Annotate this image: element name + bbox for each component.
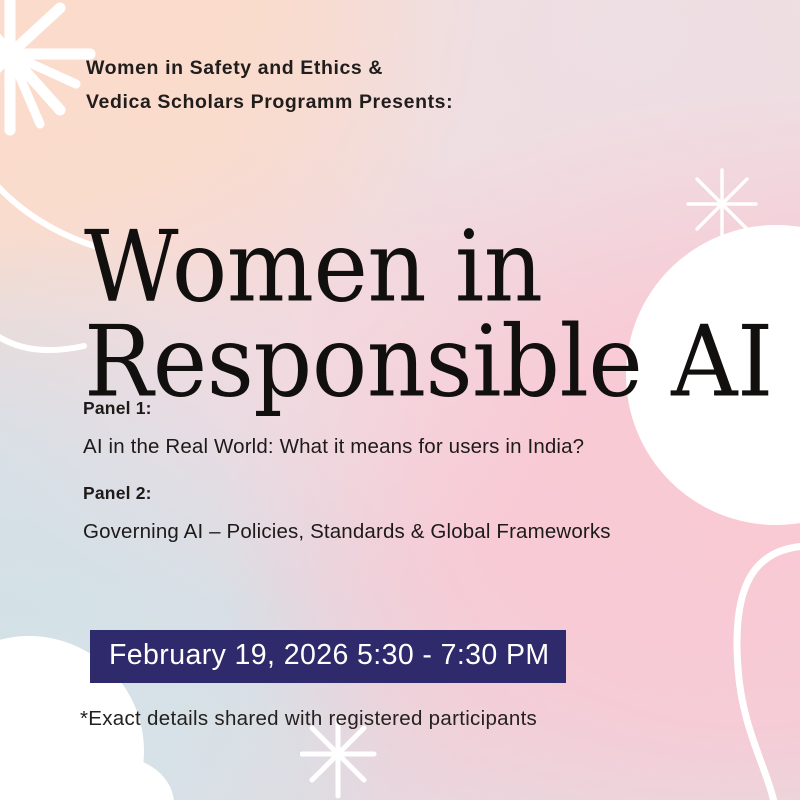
footnote-text: *Exact details shared with registered pa…	[80, 707, 537, 731]
panel-1-description: AI in the Real World: What it means for …	[83, 435, 611, 459]
panel-item-1: Panel 1: AI in the Real World: What it m…	[83, 398, 611, 459]
panel-item-2: Panel 2: Governing AI – Policies, Standa…	[83, 483, 611, 544]
date-time-banner: February 19, 2026 5:30 - 7:30 PM	[90, 630, 566, 683]
panel-2-label: Panel 2:	[83, 483, 611, 504]
presenter-line: Women in Safety and Ethics & Vedica Scho…	[86, 52, 453, 119]
event-poster: Women in Safety and Ethics & Vedica Scho…	[0, 0, 800, 800]
panel-list: Panel 1: AI in the Real World: What it m…	[83, 398, 611, 544]
page-title: Women in Responsible AI	[84, 219, 773, 410]
panel-2-description: Governing AI – Policies, Standards & Glo…	[83, 520, 611, 544]
panel-1-label: Panel 1:	[83, 398, 611, 419]
poster-content: Women in Safety and Ethics & Vedica Scho…	[0, 0, 800, 800]
